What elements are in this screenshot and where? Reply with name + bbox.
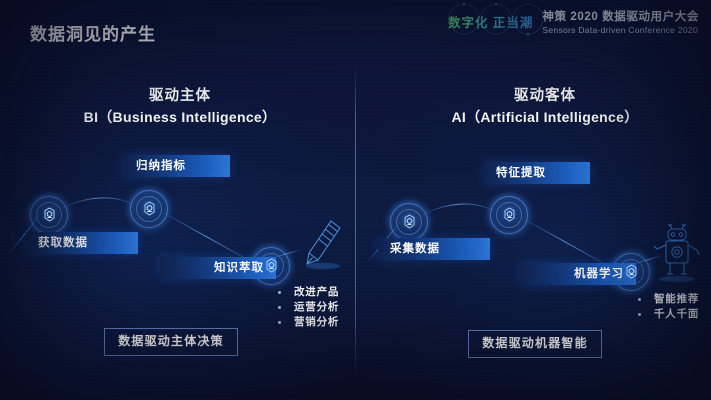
bullet-dot-icon bbox=[278, 321, 281, 324]
list-item: 改进产品 bbox=[278, 285, 339, 300]
column-divider bbox=[355, 62, 356, 380]
outcome-label: 智能推荐 bbox=[654, 292, 699, 307]
data-node-icon bbox=[624, 264, 639, 280]
logo-text-block: 神策 2020 数据驱动用户大会 Sensors Data-driven Con… bbox=[542, 8, 699, 35]
outcome-label: 营销分析 bbox=[294, 315, 339, 330]
outcome-list-right: 智能推荐 千人千面 bbox=[638, 292, 699, 322]
column-heading-left-cn: 驱动主体 bbox=[80, 86, 280, 106]
bullet-dot-icon bbox=[278, 306, 281, 309]
page-title: 数据洞见的产生 bbox=[30, 20, 156, 45]
node-left-step-2[interactable] bbox=[126, 186, 172, 232]
list-item: 千人千面 bbox=[638, 307, 699, 322]
column-heading-right: 驱动客体 AI（Artificial Intelligence） bbox=[430, 86, 660, 128]
column-heading-left: 驱动主体 BI（Business Intelligence） bbox=[80, 86, 280, 128]
chip-left-step-2[interactable]: 归纳指标 bbox=[124, 155, 230, 177]
result-box-left[interactable]: 数据驱动主体决策 bbox=[104, 328, 238, 356]
data-node-icon bbox=[402, 214, 417, 230]
data-node-icon bbox=[502, 207, 517, 223]
chip-left-step-1[interactable]: 获取数据 bbox=[26, 232, 138, 254]
list-item: 运营分析 bbox=[278, 300, 339, 315]
outcome-label: 改进产品 bbox=[294, 285, 339, 300]
outcome-list-left: 改进产品 运营分析 营销分析 bbox=[278, 285, 339, 330]
bullet-dot-icon bbox=[278, 291, 281, 294]
chip-right-step-3[interactable]: 机器学习 bbox=[520, 263, 636, 285]
outcome-label: 千人千面 bbox=[654, 307, 699, 322]
conference-logo: 数字化 正当潮 神策 2020 数据驱动用户大会 Sensors Data-dr… bbox=[446, 8, 699, 35]
column-heading-left-en: BI（Business Intelligence） bbox=[80, 106, 280, 128]
slide-canvas: 数据洞见的产生 数字化 正当潮 神策 2020 数据驱动用户大会 Sensors… bbox=[0, 0, 711, 400]
pencil-icon bbox=[298, 218, 344, 272]
data-node-icon bbox=[142, 201, 157, 217]
robot-icon bbox=[652, 224, 704, 282]
chip-right-step-2[interactable]: 特征提取 bbox=[484, 162, 590, 184]
chip-left-step-3[interactable]: 知识萃取 bbox=[160, 257, 276, 279]
logo-title-en: Sensors Data-driven Conference 2020 bbox=[542, 25, 699, 35]
outcome-label: 运营分析 bbox=[294, 300, 339, 315]
bullet-dot-icon bbox=[638, 298, 641, 301]
result-box-right[interactable]: 数据驱动机器智能 bbox=[468, 330, 602, 358]
bullet-dot-icon bbox=[638, 313, 641, 316]
list-item: 营销分析 bbox=[278, 315, 339, 330]
data-node-icon bbox=[42, 207, 57, 223]
logo-slogan: 数字化 正当潮 bbox=[446, 8, 535, 35]
data-node-icon bbox=[264, 258, 279, 274]
list-item: 智能推荐 bbox=[638, 292, 699, 307]
column-heading-right-cn: 驱动客体 bbox=[430, 86, 660, 106]
logo-title-cn: 神策 2020 数据驱动用户大会 bbox=[542, 8, 699, 24]
node-right-step-2[interactable] bbox=[486, 192, 532, 238]
chip-right-step-1[interactable]: 采集数据 bbox=[378, 238, 490, 260]
column-heading-right-en: AI（Artificial Intelligence） bbox=[430, 106, 660, 128]
